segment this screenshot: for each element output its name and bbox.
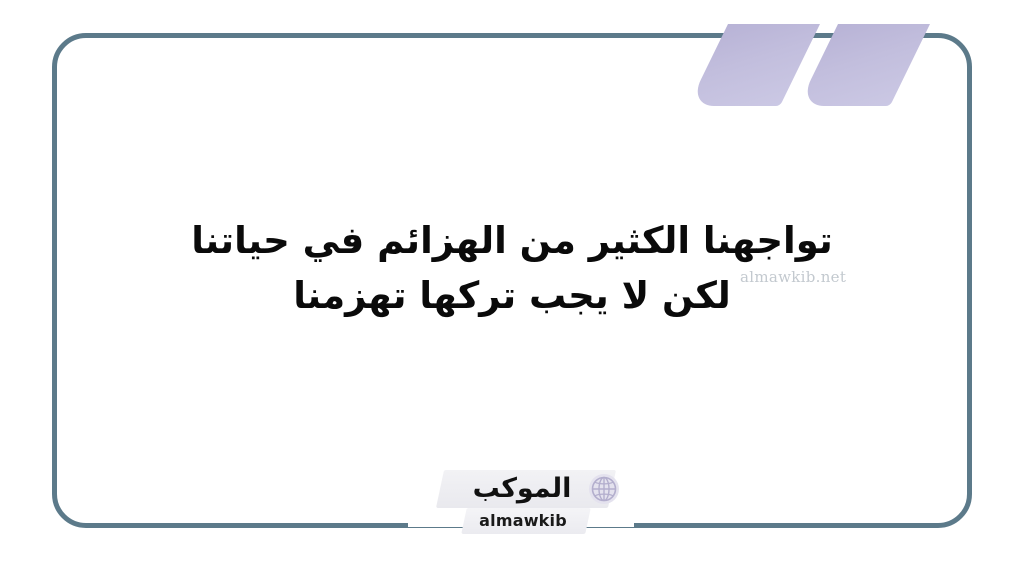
quotation-mark-stroke-1 <box>688 24 820 106</box>
watermark-text: almawkib.net <box>740 268 846 286</box>
brand-name-latin: almawkib <box>418 508 628 534</box>
brand-name-arabic: الموكب <box>462 470 582 508</box>
quote-text: تواجهنا الكثير من الهزائم في حياتنا لكن … <box>0 214 1024 324</box>
globe-icon <box>588 473 620 505</box>
quotation-mark-icon <box>700 24 960 120</box>
quote-line-1: تواجهنا الكثير من الهزائم في حياتنا <box>0 214 1024 269</box>
quotation-mark-stroke-2 <box>798 24 930 106</box>
quote-card: تواجهنا الكثير من الهزائم في حياتنا لكن … <box>0 0 1024 576</box>
brand-lockup: الموكب almawkib <box>418 468 628 538</box>
quote-line-2: لكن لا يجب تركها تهزمنا <box>0 269 1024 324</box>
